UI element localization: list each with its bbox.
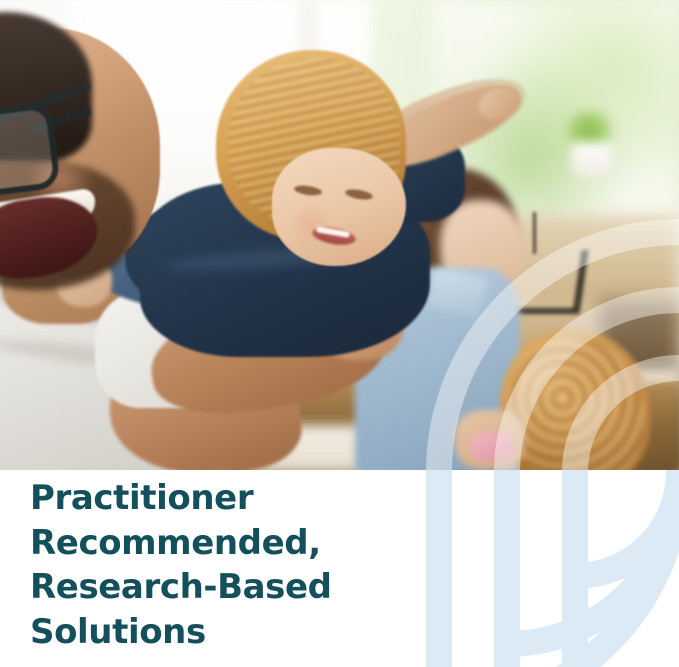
plant-pot — [572, 143, 612, 177]
page-title: Practitioner Recommended, Research-Based… — [30, 476, 450, 654]
marketing-banner: Practitioner Recommended, Research-Based… — [0, 0, 679, 667]
lamp-cord — [533, 212, 536, 254]
headline-band: Practitioner Recommended, Research-Based… — [0, 470, 679, 667]
hero-photo — [0, 0, 679, 470]
second-child-pink-item — [470, 432, 514, 462]
